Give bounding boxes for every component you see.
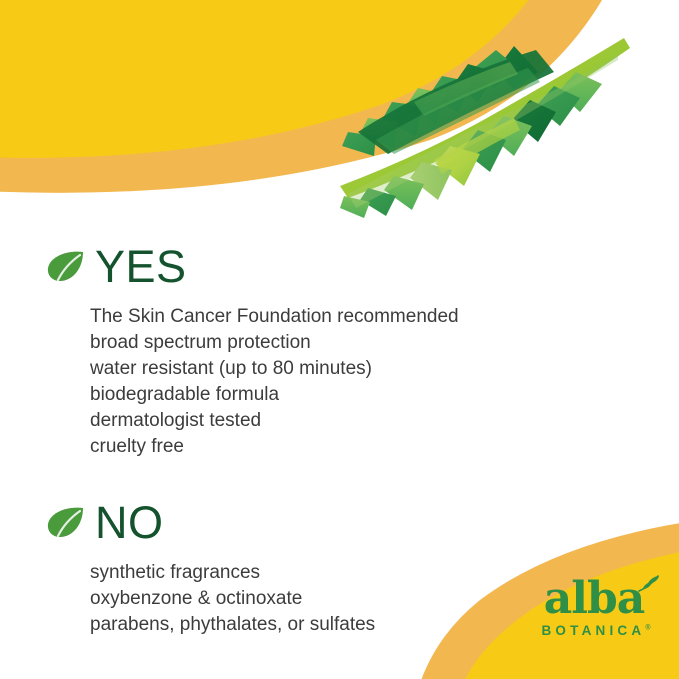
leaf-sprig-icon (638, 574, 660, 594)
section-no-header: NO (46, 496, 375, 548)
section-yes: YES The Skin Cancer Foundation recommend… (46, 240, 459, 460)
brand-logo: alba BOTANICA® (528, 578, 660, 638)
section-no-list: synthetic fragrances oxybenzone & octino… (90, 560, 375, 638)
leaf-icon (46, 249, 86, 283)
brand-name-wrap: alba (544, 578, 645, 620)
list-item: The Skin Cancer Foundation recommended (90, 304, 459, 330)
trademark-symbol: ® (645, 624, 650, 631)
list-item: cruelty free (90, 434, 459, 460)
section-yes-heading: YES (95, 244, 187, 289)
brand-subtitle: BOTANICA (541, 623, 645, 638)
leaf-icon (46, 505, 86, 539)
watercolor-palm-leaf (318, 28, 638, 228)
infographic-canvas: YES The Skin Cancer Foundation recommend… (0, 0, 679, 679)
list-item: dermatologist tested (90, 408, 459, 434)
list-item: synthetic fragrances (90, 560, 375, 586)
list-item: biodegradable formula (90, 382, 459, 408)
list-item: water resistant (up to 80 minutes) (90, 356, 459, 382)
section-yes-list: The Skin Cancer Foundation recommended b… (90, 304, 459, 460)
brand-name: alba (544, 573, 645, 624)
section-no: NO synthetic fragrances oxybenzone & oct… (46, 496, 375, 638)
section-no-heading: NO (95, 500, 164, 545)
list-item: broad spectrum protection (90, 330, 459, 356)
list-item: parabens, phythalates, or sulfates (90, 612, 375, 638)
list-item: oxybenzone & octinoxate (90, 586, 375, 612)
brand-subtitle-wrap: BOTANICA® (528, 623, 660, 638)
section-yes-header: YES (46, 240, 459, 292)
